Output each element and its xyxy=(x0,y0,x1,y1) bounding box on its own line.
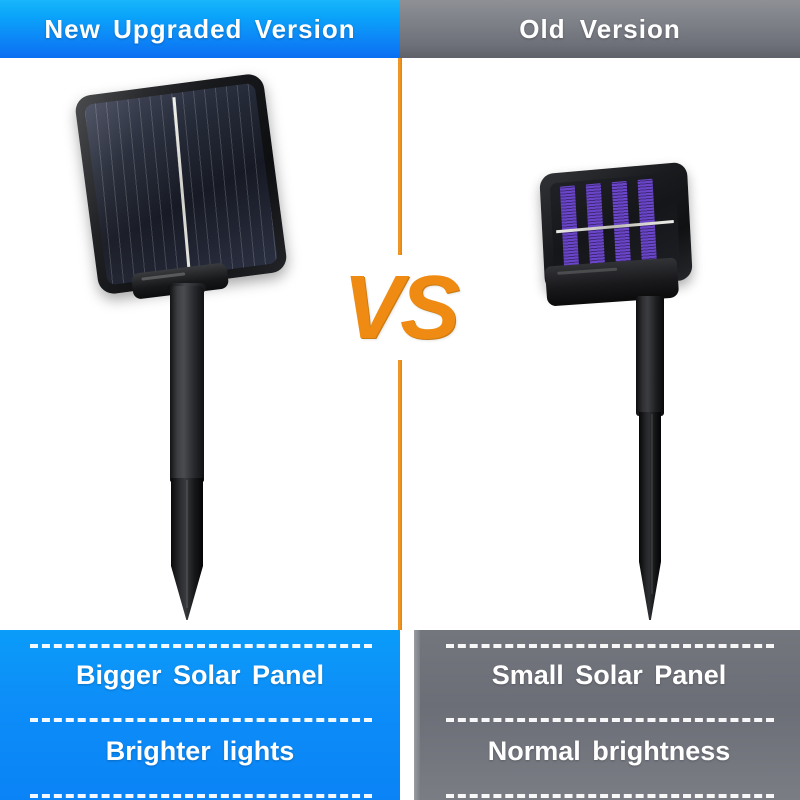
header-old-version: Old Version xyxy=(400,0,800,58)
vs-label: VS xyxy=(343,263,457,353)
new-panel-glare xyxy=(74,72,288,295)
new-panel-hinge-highlight xyxy=(141,272,185,280)
old-ground-spike xyxy=(639,412,661,620)
feature-right-2: Normal brightness xyxy=(400,736,800,767)
vs-badge: VS xyxy=(330,255,470,360)
old-ground-spike-highlight xyxy=(651,414,653,594)
header-new-version: New Upgraded Version xyxy=(0,0,400,58)
old-stake-tube xyxy=(636,296,664,416)
feature-divider-top-right xyxy=(446,644,774,648)
new-stake-tube xyxy=(170,286,204,482)
features-new-version: Bigger Solar Panel Brighter lights xyxy=(0,630,400,800)
feature-left-1: Bigger Solar Panel xyxy=(0,660,400,691)
feature-right-1: Small Solar Panel xyxy=(400,660,800,691)
features-old-version: Small Solar Panel Normal brightness xyxy=(400,630,800,800)
comparison-graphic: New Upgraded Version Old Version xyxy=(0,0,800,800)
feature-divider-bottom-right xyxy=(446,794,774,798)
new-solar-panel xyxy=(74,72,288,295)
feature-left-2: Brighter lights xyxy=(0,736,400,767)
new-ground-spike-highlight xyxy=(186,480,188,608)
feature-divider-mid-left xyxy=(30,718,372,722)
feature-divider-top-left xyxy=(30,644,372,648)
header-new-version-label: New Upgraded Version xyxy=(44,14,355,45)
feature-divider-mid-right xyxy=(446,718,774,722)
feature-divider-bottom-left xyxy=(30,794,372,798)
header-old-version-label: Old Version xyxy=(519,14,681,45)
old-housing-highlight xyxy=(557,268,617,275)
